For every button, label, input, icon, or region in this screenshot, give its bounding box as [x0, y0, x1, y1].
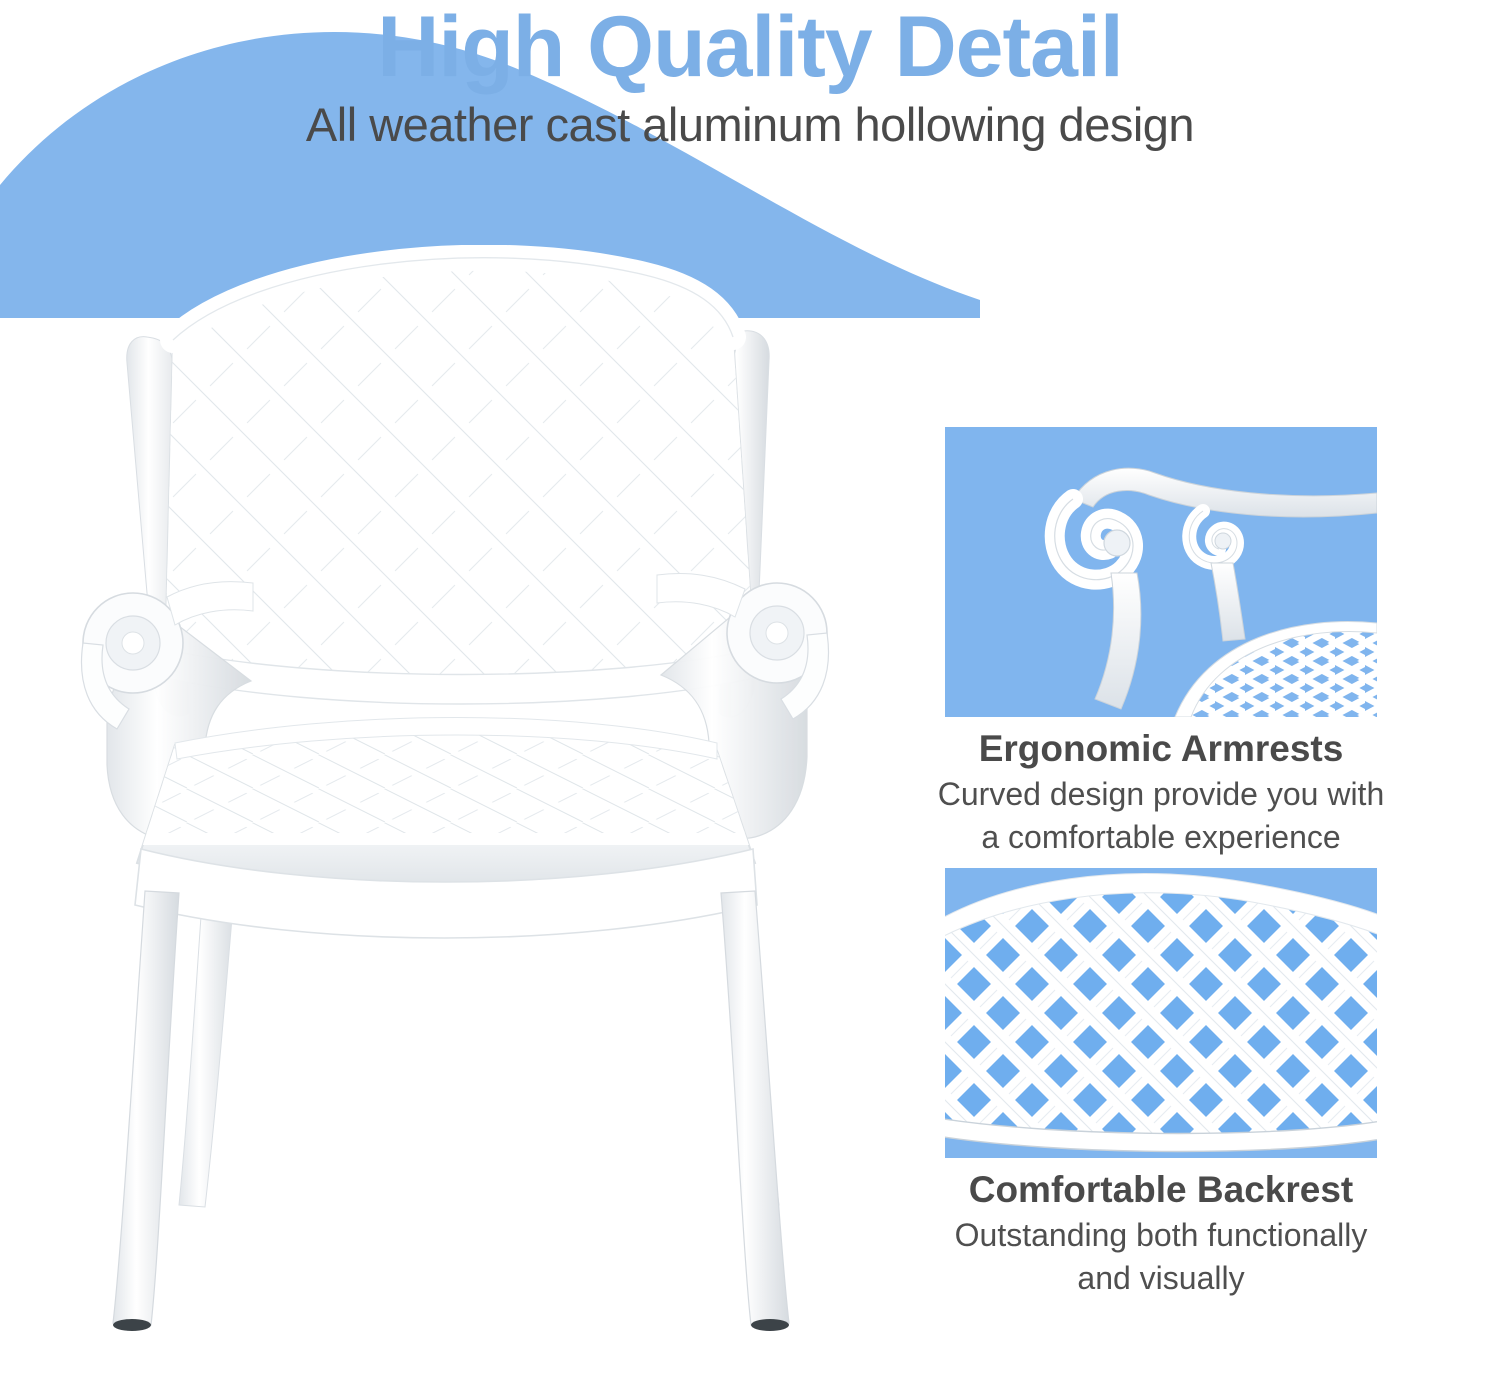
page-title: High Quality Detail	[0, 4, 1500, 92]
feature-caption-backrest: Comfortable Backrest Outstanding both fu…	[905, 1168, 1417, 1298]
feature-title-backrest: Comfortable Backrest	[905, 1168, 1417, 1212]
chair-backrest-frame	[127, 245, 785, 725]
chair-seat	[125, 715, 785, 938]
page-subtitle: All weather cast aluminum hollowing desi…	[0, 100, 1500, 149]
feature-title-armrest: Ergonomic Armrests	[905, 727, 1417, 771]
feature-desc-backrest-line2: and visually	[905, 1259, 1417, 1298]
hero-chair-image	[55, 245, 915, 1355]
header: High Quality Detail All weather cast alu…	[0, 0, 1500, 149]
feature-image-backrest	[945, 868, 1377, 1158]
feature-desc-armrest-line2: a comfortable experience	[905, 818, 1417, 857]
feature-image-armrest	[945, 427, 1377, 717]
feature-desc-armrest-line1: Curved design provide you with	[905, 775, 1417, 814]
feature-caption-armrest: Ergonomic Armrests Curved design provide…	[905, 727, 1417, 857]
feature-desc-backrest-line1: Outstanding both functionally	[905, 1216, 1417, 1255]
